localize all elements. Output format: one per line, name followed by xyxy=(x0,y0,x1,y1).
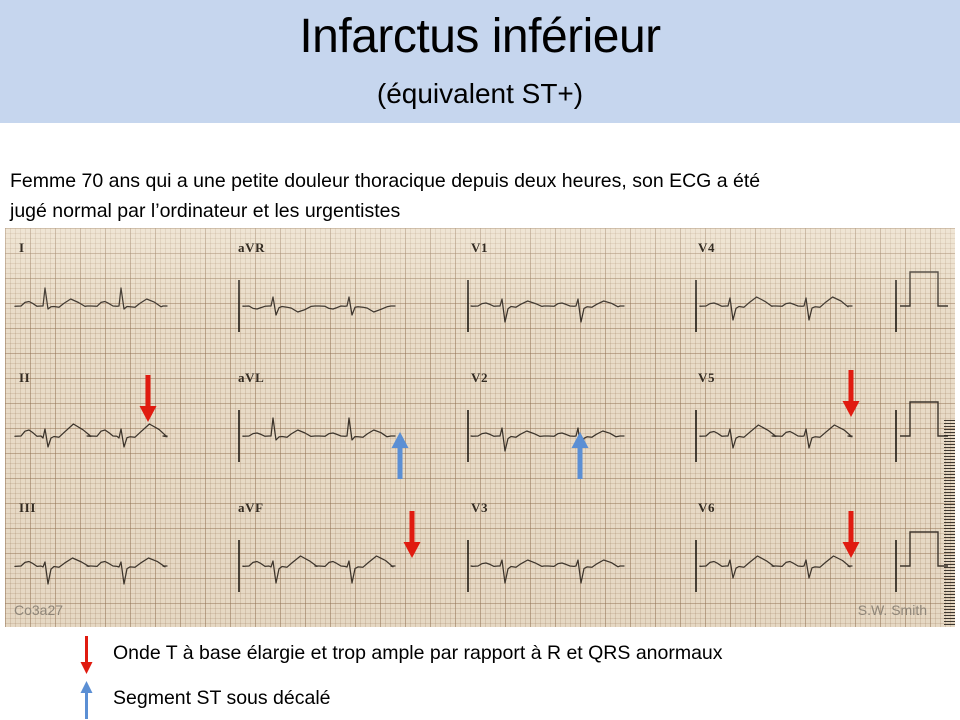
page-title: Infarctus inférieur xyxy=(0,11,960,64)
red-arrow-lead-V6-icon xyxy=(841,511,861,559)
lead-label-avf: aVF xyxy=(238,500,264,516)
case-description-line-2: jugé normal par l’ordinateur et les urge… xyxy=(10,197,954,227)
watermark-case-id: Co3a27 xyxy=(14,602,63,618)
lead-label-v1: V1 xyxy=(471,240,488,256)
blue-arrow-lead-V2-icon xyxy=(570,431,590,479)
case-description: Femme 70 ans qui a une petite douleur th… xyxy=(10,167,954,226)
legend-item-label: Segment ST sous décalé xyxy=(113,687,331,710)
lead-label-ii: II xyxy=(19,370,30,386)
lead-label-v4: V4 xyxy=(698,240,715,256)
lead-label-i: I xyxy=(19,240,25,256)
lead-label-avr: aVR xyxy=(238,240,265,256)
red-arrow-lead-aVF-icon xyxy=(402,511,422,559)
lead-label-avl: aVL xyxy=(238,370,264,386)
case-description-line-1: Femme 70 ans qui a une petite douleur th… xyxy=(10,167,954,197)
red-arrow-lead-II-icon xyxy=(138,375,158,423)
lead-label-v2: V2 xyxy=(471,370,488,386)
ecg-waveform-traces xyxy=(5,228,955,627)
lead-label-v3: V3 xyxy=(471,500,488,516)
lead-label-iii: III xyxy=(19,500,36,516)
blue-arrow-lead-aVL-icon xyxy=(390,431,410,479)
title-band: Infarctus inférieur (équivalent ST+) xyxy=(0,0,960,123)
legend-item: Segment ST sous décalé xyxy=(0,681,960,720)
red-arrow-lead-V5-icon xyxy=(841,370,861,418)
red-arrow-legend-icon xyxy=(80,636,93,679)
legend-item: Onde T à base élargie et trop ample par … xyxy=(0,636,960,678)
blue-arrow-legend-icon xyxy=(80,681,93,720)
page-subtitle: (équivalent ST+) xyxy=(0,79,960,110)
lead-label-v5: V5 xyxy=(698,370,715,386)
watermark-credit: S.W. Smith xyxy=(858,602,927,618)
paper-edge-barcode xyxy=(944,420,955,627)
ecg-figure: IaVRV1V4IIaVLV2V5IIIaVFV3V6 Co3a27 S.W. … xyxy=(5,228,955,627)
legend-item-label: Onde T à base élargie et trop ample par … xyxy=(113,642,723,665)
lead-label-v6: V6 xyxy=(698,500,715,516)
slide-root: Infarctus inférieur (équivalent ST+) Fem… xyxy=(0,0,960,720)
